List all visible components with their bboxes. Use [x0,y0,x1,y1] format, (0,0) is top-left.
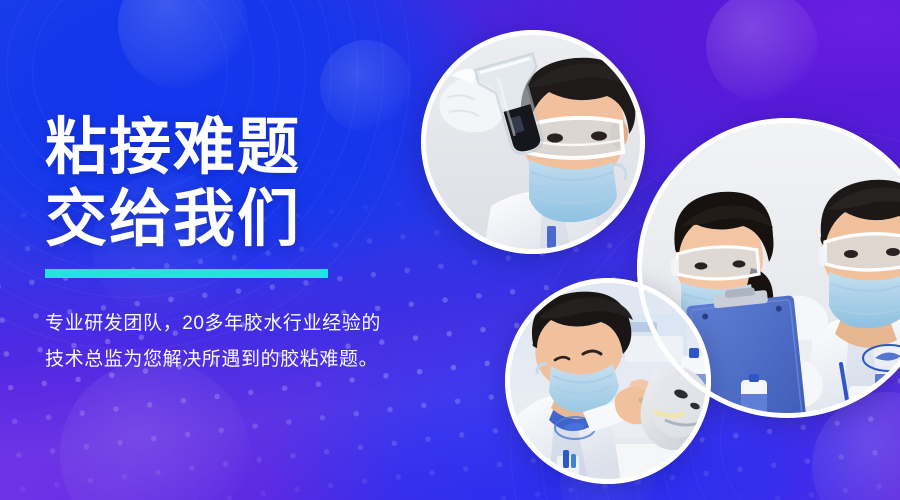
headline-line-2: 交给我们 [45,184,435,256]
copy-block: 粘接难题 交给我们 专业研发团队，20多年胶水行业经验的 技术总监为您解决所遇到… [45,112,435,256]
photo-applying [505,278,711,484]
headline: 粘接难题 交给我们 [45,112,435,256]
headline-line-1: 粘接难题 [45,112,435,184]
promo-banner: 粘接难题 交给我们 专业研发团队，20多年胶水行业经验的 技术总监为您解决所遇到… [0,0,900,500]
cyan-underline-bar [45,269,328,278]
subtitle: 专业研发团队，20多年胶水行业经验的 技术总监为您解决所遇到的胶粘难题。 [45,306,381,378]
photo-beaker [421,30,645,254]
subtitle-line-1: 专业研发团队，20多年胶水行业经验的 [45,306,381,342]
subtitle-line-2: 技术总监为您解决所遇到的胶粘难题。 [45,342,381,378]
